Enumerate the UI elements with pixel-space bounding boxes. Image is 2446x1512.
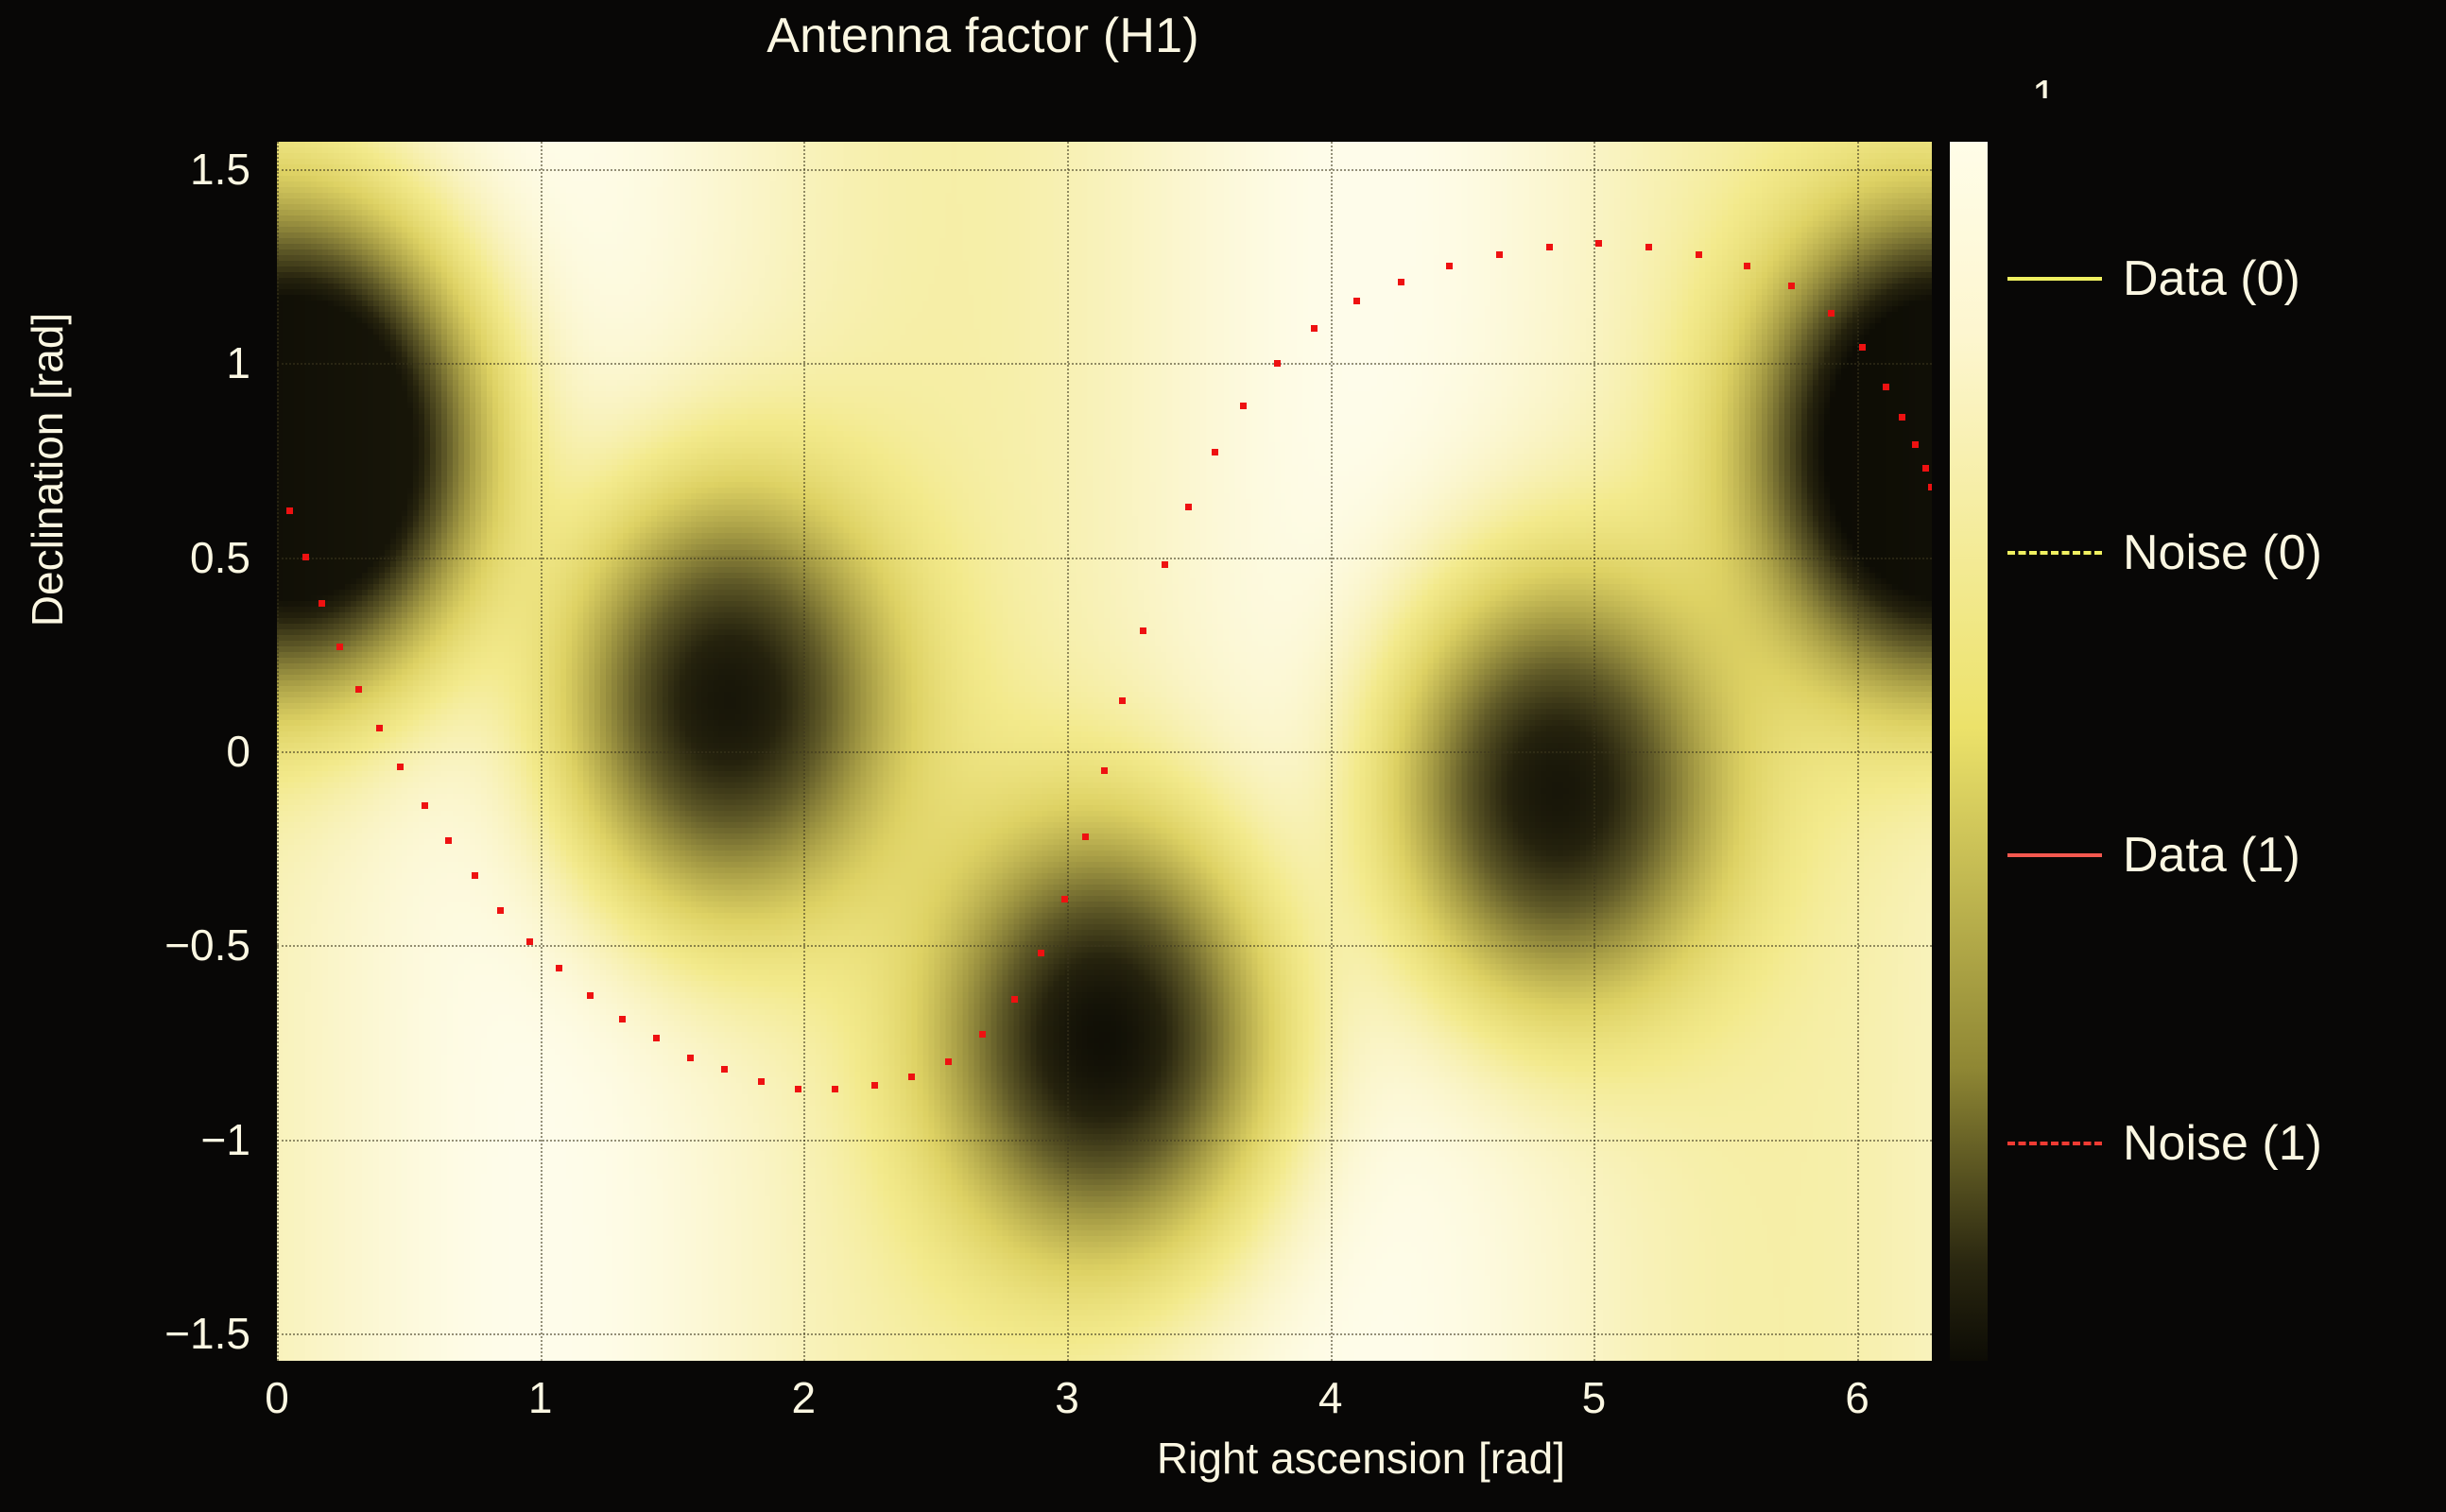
legend-item-label: Noise (1) [2123, 1115, 2322, 1172]
x-axis-ticks: 0123456 [0, 1372, 2446, 1433]
colorbar-gradient [1950, 142, 1988, 1361]
y-tick-label: 0.5 [190, 532, 250, 583]
y-tick-label: 0 [226, 726, 250, 777]
x-tick-label: 0 [265, 1372, 289, 1423]
colorbar-max-label: 1 [2032, 74, 2057, 98]
page-title: Antenna factor (H1) [0, 8, 1966, 64]
legend-line-icon [2007, 853, 2102, 857]
legend-item-label: Data (0) [2123, 250, 2300, 307]
legend-item-label: Data (1) [2123, 827, 2300, 884]
legend-item-data-0[interactable]: Data (0) [2007, 246, 2442, 312]
y-tick-label: 1.5 [190, 144, 250, 195]
y-tick-label: −0.5 [164, 919, 250, 971]
legend-line-icon [2007, 1142, 2102, 1145]
y-tick-label: −1.5 [164, 1308, 250, 1359]
chart-canvas: Antenna factor (H1) Declination [rad] 1.… [0, 0, 2446, 1512]
x-tick-label: 6 [1845, 1372, 1869, 1423]
legend-item-data-1[interactable]: Data (1) [2007, 822, 2442, 888]
legend-line-icon [2007, 551, 2102, 555]
x-tick-label: 1 [528, 1372, 553, 1423]
y-tick-label: 1 [226, 337, 250, 388]
y-tick-label: −1 [201, 1114, 250, 1165]
x-tick-label: 2 [792, 1372, 817, 1423]
y-axis-ticks: 1.510.50−0.5−1−1.5 [76, 0, 250, 1512]
legend-item-label: Noise (0) [2123, 524, 2322, 581]
colorbar [1950, 142, 1988, 1361]
legend-item-noise-0[interactable]: Noise (0) [2007, 520, 2442, 586]
legend-line-icon [2007, 277, 2102, 281]
x-tick-label: 3 [1055, 1372, 1079, 1423]
heatmap-image [277, 142, 1932, 1361]
legend: Data (0)Noise (0)Data (1)Noise (1) [2007, 142, 2442, 1361]
y-axis-label: Declination [rad] [22, 167, 73, 772]
x-axis-label: Right ascension [rad] [1021, 1433, 1701, 1484]
plot-area [277, 142, 1932, 1361]
legend-item-noise-1[interactable]: Noise (1) [2007, 1110, 2442, 1177]
x-tick-label: 4 [1318, 1372, 1343, 1423]
x-tick-label: 5 [1582, 1372, 1607, 1423]
